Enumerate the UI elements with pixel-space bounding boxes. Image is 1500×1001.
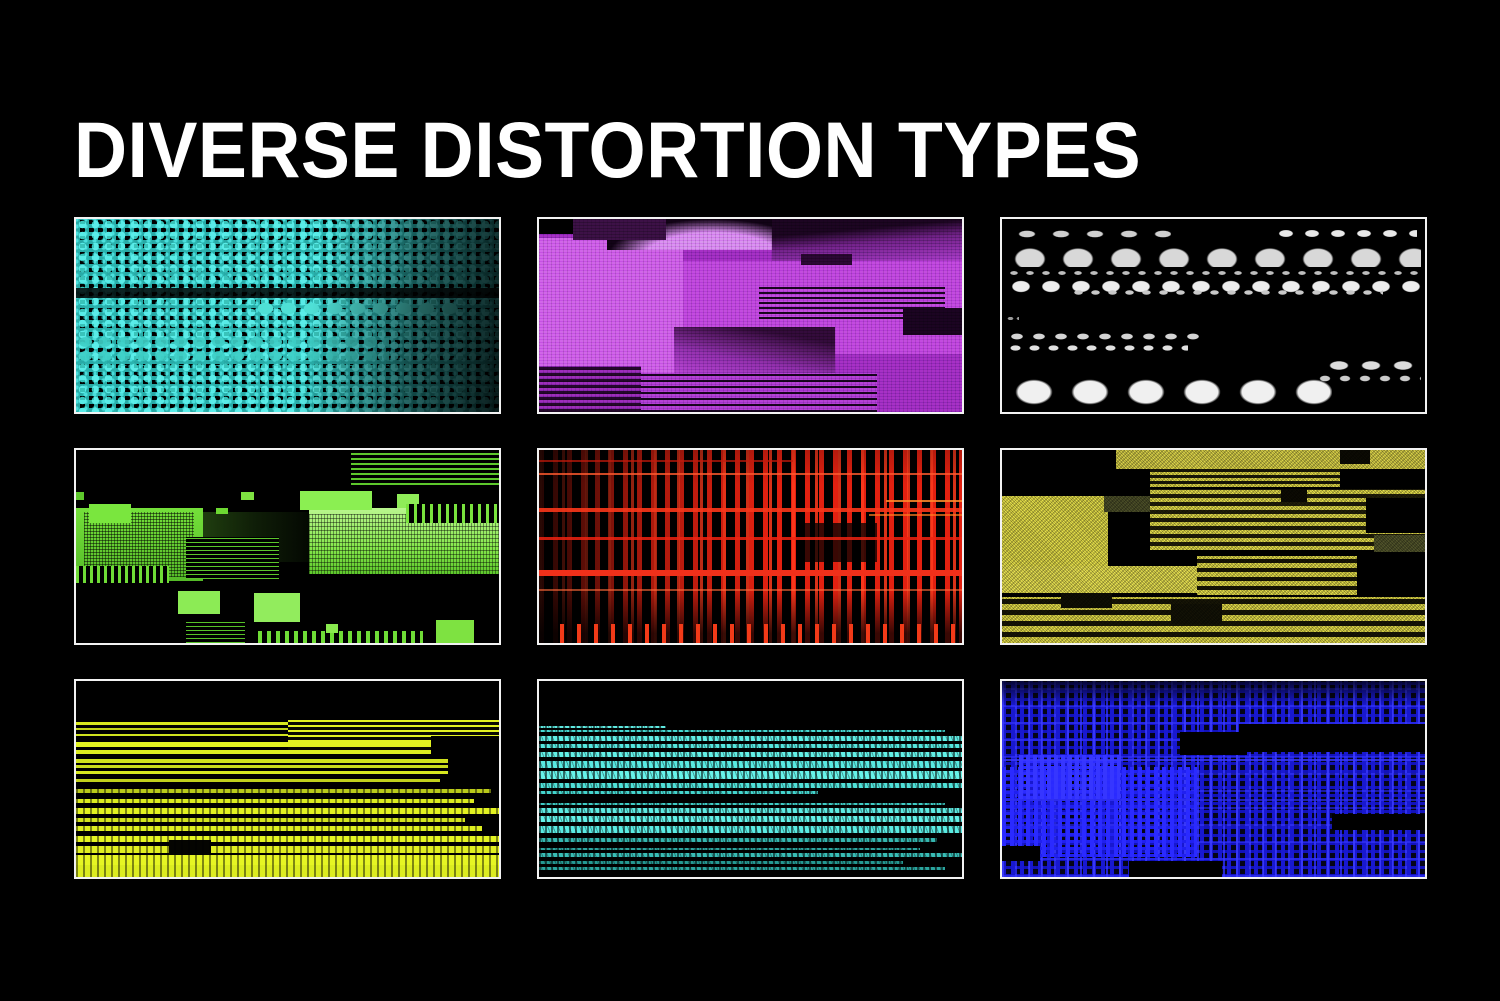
red-hline-4 [539, 570, 962, 576]
lime-streak-5 [76, 750, 440, 754]
blue-dropout-3 [1332, 814, 1425, 830]
teal-edge-fade [76, 219, 499, 412]
magenta-scanline-overlay [539, 219, 962, 412]
blue-pixel-grid-artwork [1002, 681, 1425, 877]
blue-hline-2 [1002, 799, 1425, 801]
magenta-datamosh-blocks-artwork [539, 219, 962, 412]
green-dot-field [351, 452, 499, 485]
lime-streak-9 [76, 779, 440, 782]
blob-speck-1 [1006, 316, 1019, 322]
red-hline-6 [539, 460, 793, 462]
green-block-6 [254, 593, 301, 622]
red-hline-8 [869, 514, 962, 516]
blob-band-7 [1006, 343, 1188, 353]
blue-top-fade [1002, 681, 1425, 705]
green-comb-3 [258, 631, 423, 643]
red-hline-3 [539, 537, 962, 540]
lime-streak-8 [76, 771, 448, 774]
green-block-8 [241, 492, 254, 500]
distortion-tile-yellow-noise-blocks[interactable] [1000, 448, 1427, 645]
green-block-2 [89, 504, 131, 523]
green-block-11 [436, 620, 474, 643]
green-block-5 [178, 591, 220, 614]
blue-bright-region-2 [1019, 755, 1121, 798]
blob-band-1b [1273, 227, 1417, 239]
cyan-speckle-overlay [539, 724, 962, 877]
lime-streak-6 [76, 759, 448, 762]
red-dropout [801, 523, 877, 562]
green-block-12 [326, 624, 339, 634]
yellow-dither-noise [1002, 450, 1425, 643]
blob-band-5 [1070, 288, 1383, 298]
teal-halftone-dot-matrix-artwork [76, 219, 499, 412]
distortion-tile-green-pixel-sort-blocks[interactable] [74, 448, 501, 645]
red-gradient-mask [539, 450, 962, 643]
distortion-tile-white-blob-halftone[interactable] [1000, 217, 1427, 414]
red-hline-5 [539, 589, 962, 591]
page-title: DIVERSE DISTORTION TYPES [74, 107, 1141, 193]
lime-speckle-overlay [76, 789, 499, 877]
blob-band-2 [1006, 242, 1421, 267]
blob-band-1 [1010, 227, 1171, 239]
green-pixel-sort-blocks-artwork [76, 450, 499, 643]
blob-band-8 [1006, 373, 1332, 410]
distortion-gallery-grid [74, 217, 1427, 882]
red-hline-1 [539, 473, 962, 475]
blue-hline-1 [1002, 759, 1425, 761]
blue-dropout-1 [1239, 724, 1425, 751]
green-block-10 [76, 492, 84, 500]
distortion-tile-teal-halftone-dot-matrix[interactable] [74, 217, 501, 414]
yellow-noise-blocks-artwork [1002, 450, 1425, 643]
green-block-9 [216, 508, 229, 514]
distortion-tile-magenta-datamosh-blocks[interactable] [537, 217, 964, 414]
red-vertical-streaks-artwork [539, 450, 962, 643]
blob-band-6 [1006, 331, 1205, 343]
green-comb-2 [406, 504, 499, 523]
blue-dropout-5 [1129, 861, 1222, 877]
red-bottom-ticks [560, 624, 962, 643]
poster-canvas: DIVERSE DISTORTION TYPES [0, 0, 1500, 1001]
distortion-tile-blue-pixel-grid[interactable] [1000, 679, 1427, 879]
blue-dropout-2 [1180, 732, 1248, 756]
red-hline-2 [539, 508, 962, 512]
green-texture-3 [186, 537, 279, 579]
lime-streak-4 [76, 742, 457, 747]
cyan-scanline-streaks-artwork [539, 681, 962, 877]
red-hline-7 [886, 500, 962, 502]
lime-streak-7 [76, 765, 448, 768]
distortion-tile-red-vertical-streaks[interactable] [537, 448, 964, 645]
distortion-tile-lime-scanline-streaks[interactable] [74, 679, 501, 879]
white-blob-halftone-artwork [1002, 219, 1425, 412]
blue-dropout-4 [1002, 846, 1040, 862]
lime-scanline-streaks-artwork [76, 681, 499, 877]
distortion-tile-cyan-scanline-streaks[interactable] [537, 679, 964, 879]
green-texture-4 [186, 620, 245, 643]
green-block-3 [300, 491, 372, 510]
green-comb-1 [76, 566, 169, 583]
